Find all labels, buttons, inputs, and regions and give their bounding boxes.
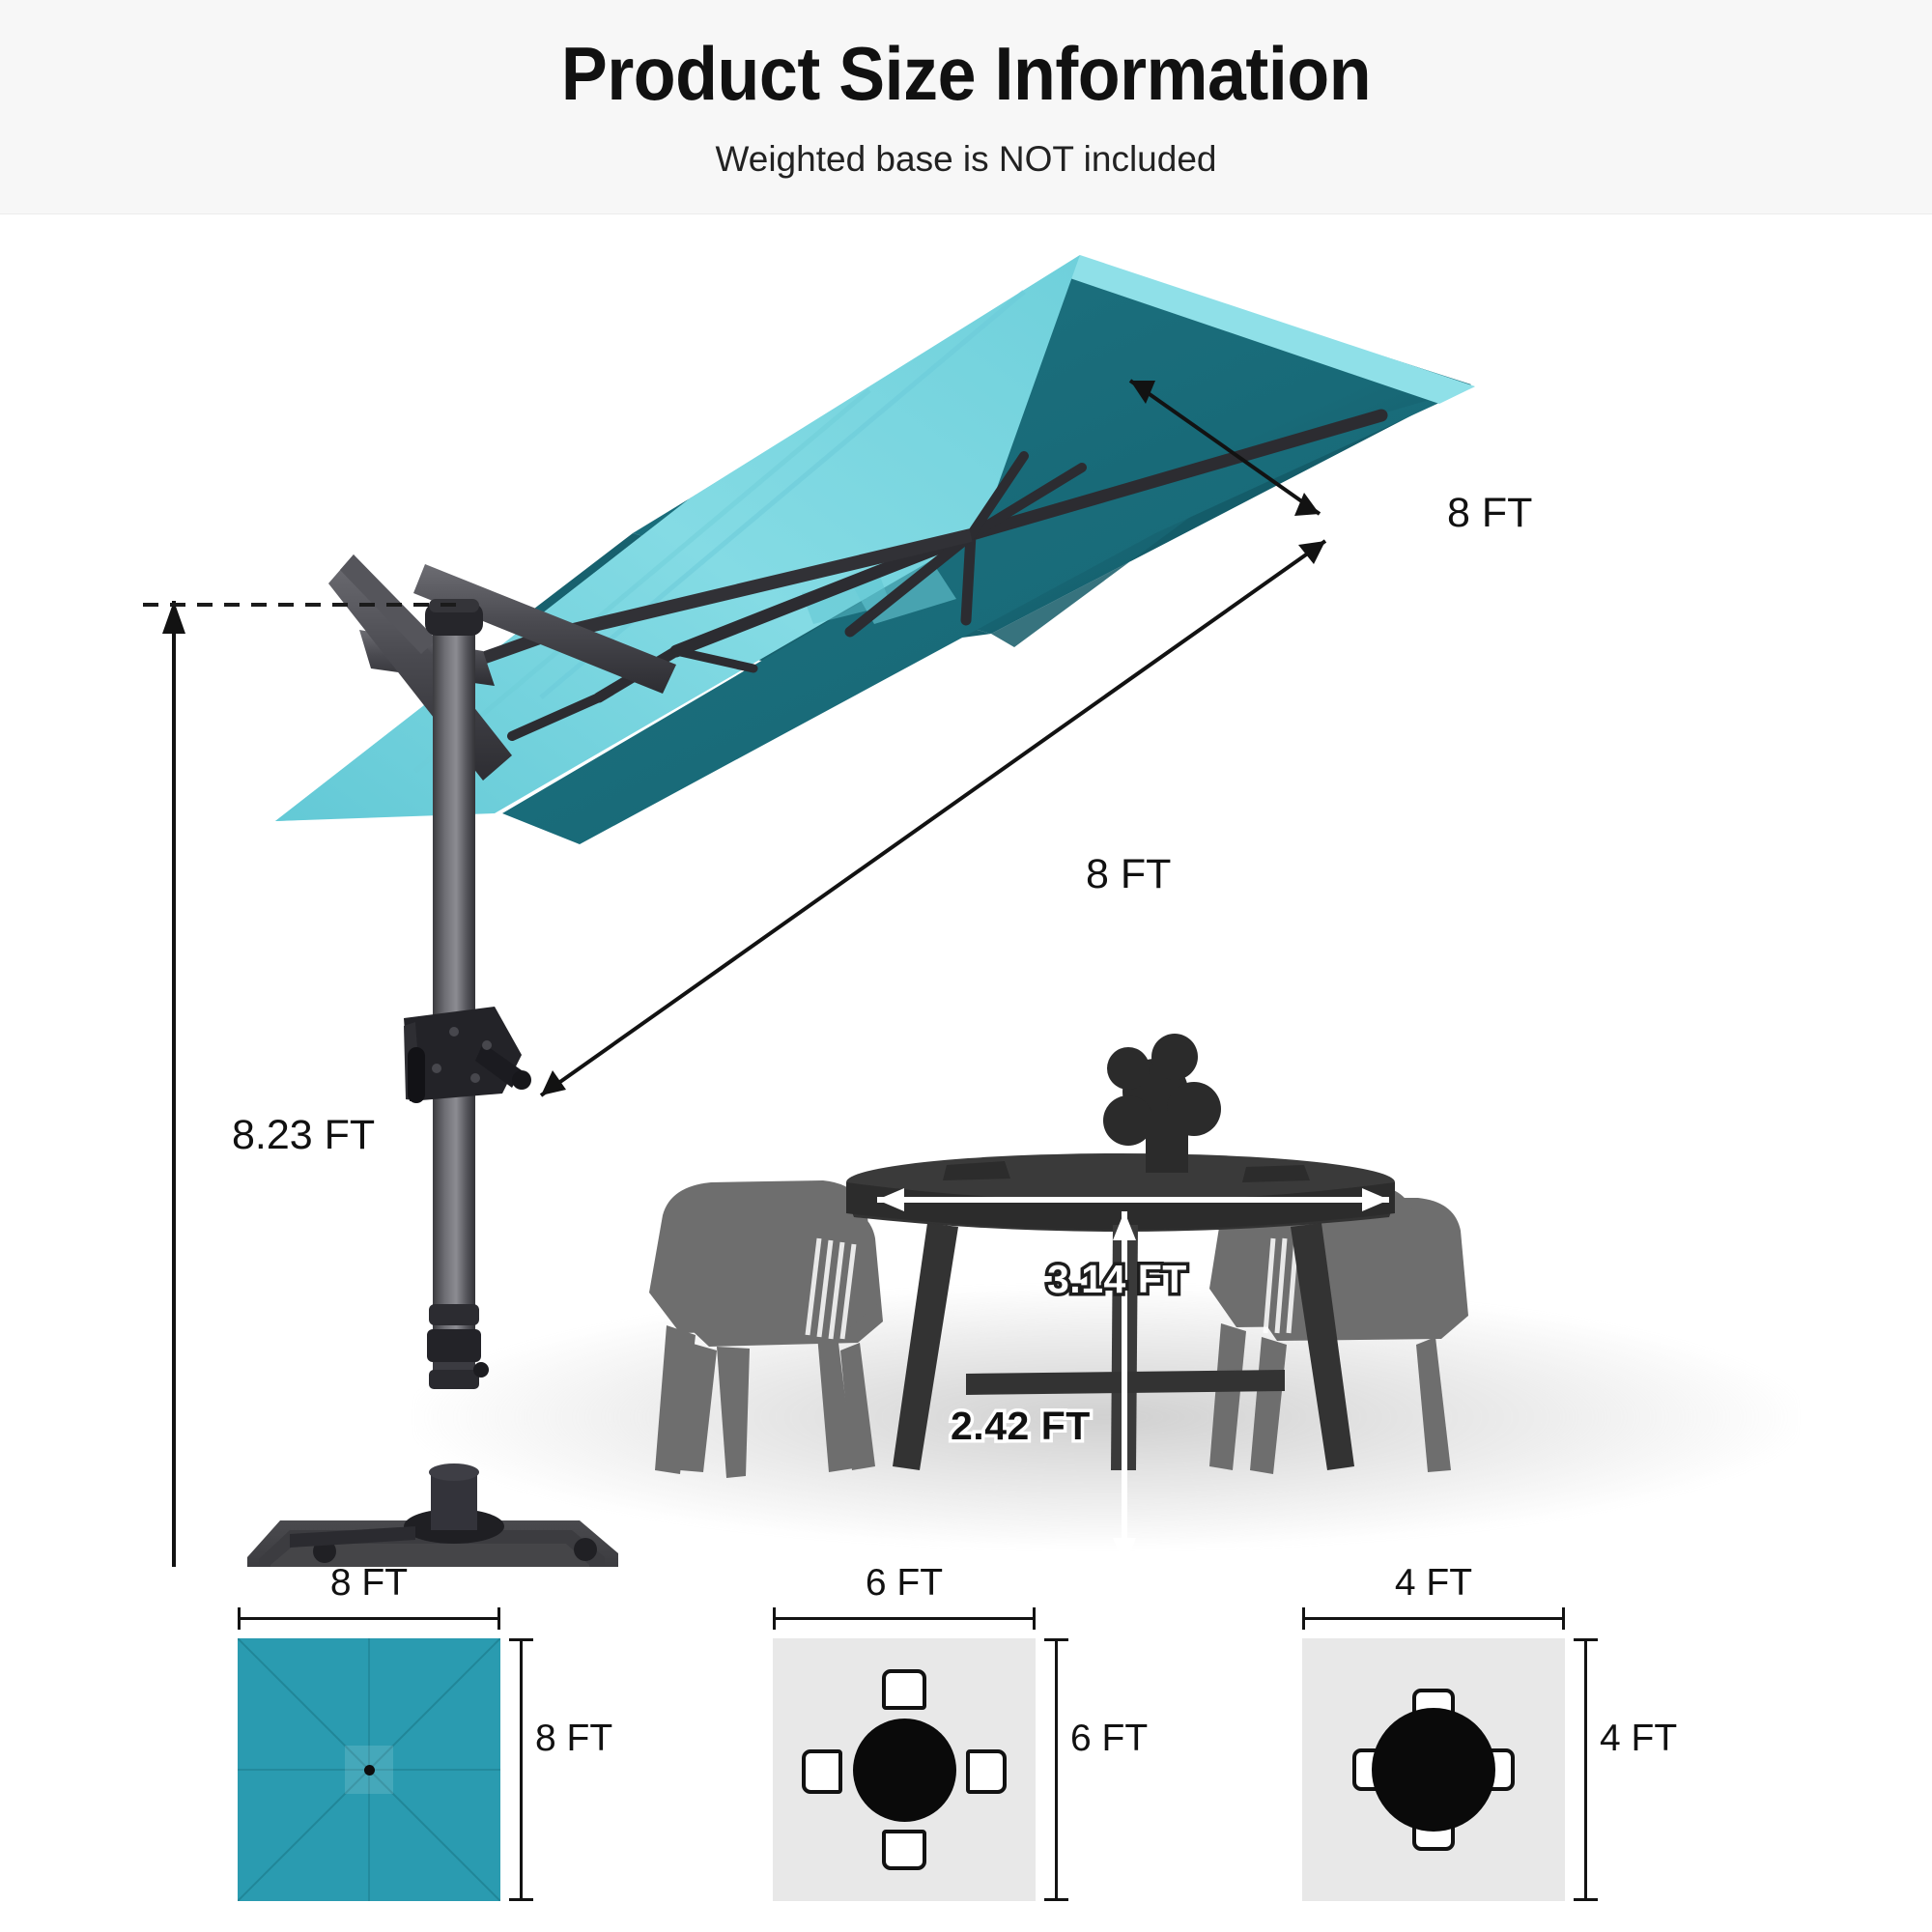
canopy-top-view xyxy=(238,1638,500,1901)
chair-west xyxy=(802,1749,842,1794)
main-illustration: 8 FT 8 FT 8.23 FT 3.14 FT 2.42 FT xyxy=(0,214,1932,1567)
panel1-top-rule xyxy=(238,1617,500,1620)
total-height-label: 8.23 FT xyxy=(232,1113,375,1157)
page-subtitle: Weighted base is NOT included xyxy=(0,137,1932,182)
round-table-4ft xyxy=(1372,1708,1495,1832)
panel2-right-tick-top xyxy=(1044,1638,1068,1641)
panel1-right-label: 8 FT xyxy=(535,1717,612,1761)
panel1-right-rule xyxy=(520,1638,523,1901)
panel2-top-label: 6 FT xyxy=(773,1561,1036,1605)
panel1-top-label: 8 FT xyxy=(238,1561,500,1605)
panel1-right-tick-top xyxy=(509,1638,533,1641)
panel2-figure xyxy=(773,1638,1036,1901)
panel-six-foot-clearance: 6 FT 6 FT xyxy=(773,1567,1159,1932)
panel-umbrella-canopy-footprint: 8 FT 8 FT xyxy=(238,1567,624,1932)
panel1-right-tick-bottom xyxy=(509,1898,533,1901)
panel3-right-tick-bottom xyxy=(1574,1898,1598,1901)
chair-south xyxy=(882,1830,926,1870)
product-size-infographic: Product Size Information Weighted base i… xyxy=(0,0,1932,1932)
weighted-base xyxy=(247,1463,618,1567)
chair-north xyxy=(882,1669,926,1710)
chair-east xyxy=(966,1749,1007,1794)
round-table-6ft xyxy=(853,1719,956,1822)
header-banner: Product Size Information Weighted base i… xyxy=(0,0,1932,214)
tilt-handle-assembly xyxy=(404,1007,531,1103)
panel2-right-label: 6 FT xyxy=(1070,1717,1148,1761)
panel2-right-tick-bottom xyxy=(1044,1898,1068,1901)
cantilever-umbrella-illustration xyxy=(0,214,1932,1567)
panel3-top-rule xyxy=(1302,1617,1565,1620)
canopy-center-dot xyxy=(364,1765,375,1776)
panel3-right-label: 4 FT xyxy=(1600,1717,1677,1761)
panel1-figure xyxy=(238,1638,500,1901)
footprint-panels: 8 FT 8 FT xyxy=(0,1567,1932,1932)
canopy-width-label: 8 FT xyxy=(1086,852,1171,896)
canopy-depth-label: 8 FT xyxy=(1447,491,1532,535)
panel3-right-rule xyxy=(1584,1638,1587,1901)
table-centerpiece xyxy=(1103,1034,1221,1173)
panel2-right-rule xyxy=(1055,1638,1058,1901)
panel-four-foot-clearance: 4 FT 4 FT xyxy=(1302,1567,1689,1932)
panel3-figure xyxy=(1302,1638,1565,1901)
panel3-right-tick-top xyxy=(1574,1638,1598,1641)
page-title: Product Size Information xyxy=(77,31,1855,116)
table-height-label: 2.42 FT xyxy=(951,1403,1091,1449)
table-width-label: 3.14 FT xyxy=(1047,1256,1187,1302)
panel2-top-rule xyxy=(773,1617,1036,1620)
panel3-top-label: 4 FT xyxy=(1302,1561,1565,1605)
